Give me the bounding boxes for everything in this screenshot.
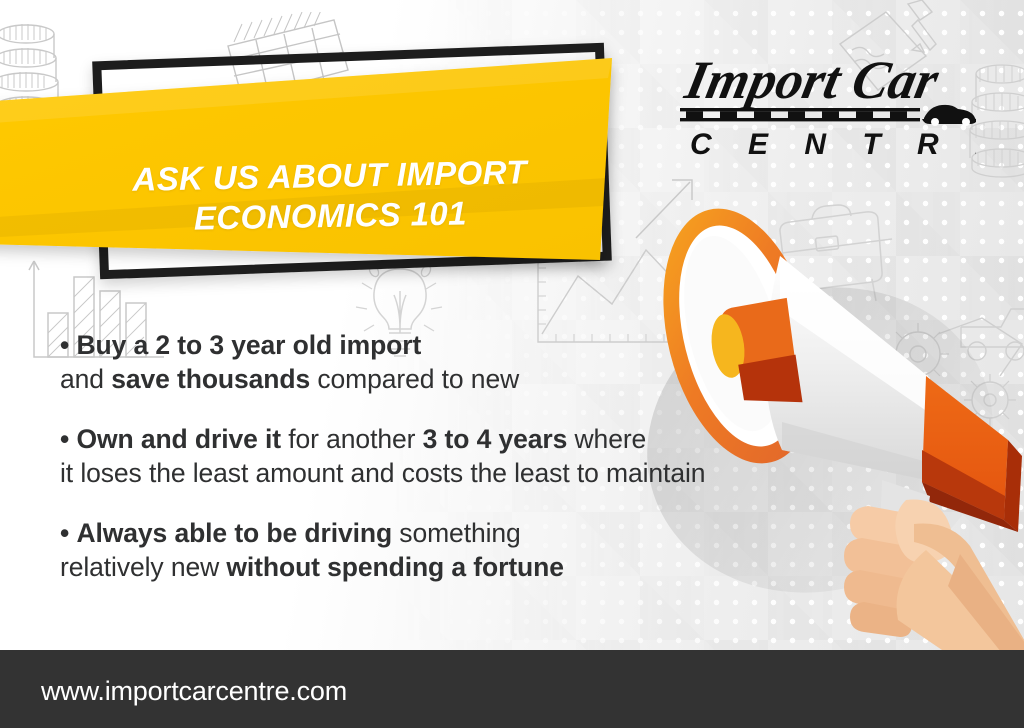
bullet-3-line-2-bold: without spending a fortune: [226, 552, 563, 582]
website-url[interactable]: www.importcarcentre.com: [41, 676, 347, 707]
brand-logo[interactable]: Import Car: [676, 46, 976, 164]
headline-banner: ASK US ABOUT IMPORT ECONOMICS 101: [0, 38, 660, 298]
bullet-1-line-1: Buy a 2 to 3 year old import: [76, 330, 421, 360]
bullet-2-line-1-post: where: [567, 424, 646, 454]
list-item: • Buy a 2 to 3 year old import and save …: [60, 328, 850, 396]
bullet-marker: •: [60, 330, 69, 360]
logo-script-text: Import Car: [679, 50, 944, 110]
bullet-2-line-2: it loses the least amount and costs the …: [60, 458, 705, 488]
bullet-1-line-2-post: compared to new: [310, 364, 519, 394]
list-item: • Always able to be driving something re…: [60, 516, 850, 584]
bullet-2-line-1-bold2: 3 to 4 years: [423, 424, 568, 454]
bullet-1-line-2-pre: and: [60, 364, 111, 394]
bullet-2-line-1-mid: for another: [281, 424, 423, 454]
road-line-icon: [680, 108, 920, 121]
bullet-1-line-2-bold: save thousands: [111, 364, 310, 394]
list-item: • Own and drive it for another 3 to 4 ye…: [60, 422, 850, 490]
bullet-3-line-1-bold: Always able to be driving: [76, 518, 392, 548]
bullet-marker: •: [60, 518, 69, 548]
bullet-marker: •: [60, 424, 69, 454]
benefits-list: • Buy a 2 to 3 year old import and save …: [60, 328, 850, 610]
footer-bar: www.importcarcentre.com: [0, 650, 1024, 728]
promo-poster: ASK US ABOUT IMPORT ECONOMICS 101 Import…: [0, 0, 1024, 728]
headline-text: ASK US ABOUT IMPORT ECONOMICS 101: [79, 151, 580, 241]
bullet-3-line-2-pre: relatively new: [60, 552, 226, 582]
bullet-3-line-1-post: something: [392, 518, 521, 548]
bullet-2-line-1-bold: Own and drive it: [76, 424, 281, 454]
